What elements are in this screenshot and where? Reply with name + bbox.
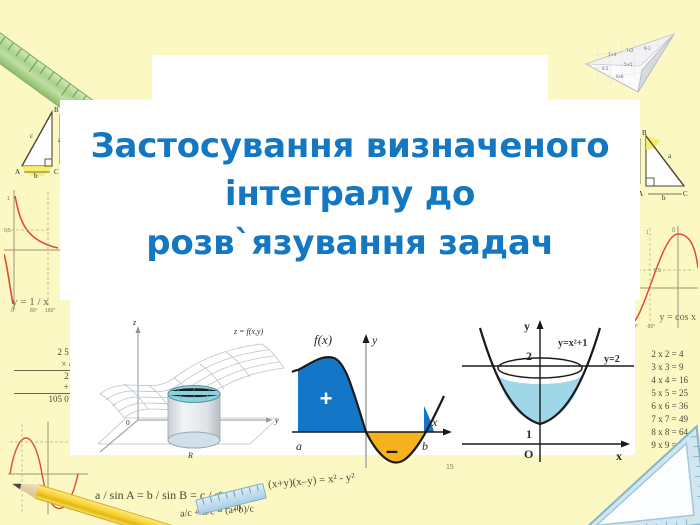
surface-region-label: R bbox=[187, 451, 193, 460]
hyperbola-tick-one: 1 bbox=[7, 196, 10, 202]
triangle-left-side-b: b bbox=[34, 172, 38, 180]
title-line-1: Застосування визначеного bbox=[60, 122, 640, 170]
surface-origin-label: 0 bbox=[126, 418, 130, 427]
solid-origin-label: O bbox=[524, 447, 533, 461]
hyperbola-tick-80: 80° bbox=[30, 308, 38, 314]
hyperbola-tick-half: 0,5 bbox=[4, 228, 11, 234]
cosine-caption: y = cos x bbox=[660, 312, 696, 323]
times-table-row: 5 x 5 = 25 bbox=[651, 387, 688, 400]
triangle-right-vertex-c: C bbox=[683, 190, 688, 198]
solid-axis-y-label: y bbox=[524, 319, 530, 333]
svg-text:7x2: 7x2 bbox=[626, 48, 634, 53]
surface-axis-z-label: z bbox=[132, 318, 137, 327]
times-table-row: 4 x 4 = 16 bbox=[651, 374, 688, 387]
svg-text:9-3: 9-3 bbox=[644, 46, 651, 51]
multiplication-times-sign: × bbox=[61, 359, 66, 369]
slide-canvas: B A C a b c 1 0,5 0 80° 160° y = 1 / x 1… bbox=[0, 0, 700, 525]
solid-curve-label: y=x²+1 bbox=[558, 338, 587, 349]
solid-tick-one: 1 bbox=[526, 427, 532, 441]
times-table-row: 3 x 3 = 9 bbox=[651, 361, 688, 374]
signed-plus-sign: + bbox=[320, 386, 333, 411]
paper-airplane-icon: 3+47x2 8:25+5 9-36x6 bbox=[582, 26, 678, 100]
difference-of-squares-formula: (x+y)(x–y) = x² - y² bbox=[268, 471, 356, 491]
triangle-left-vertex-b: B bbox=[54, 106, 59, 114]
surface-function-label: z = f(x,y) bbox=[233, 327, 264, 336]
signed-lower-limit-label: a bbox=[296, 439, 302, 453]
signed-axis-x-label: x bbox=[431, 415, 438, 429]
figure-double-integral-surface: y z 0 R bbox=[92, 312, 288, 462]
solid-axis-x-label: x bbox=[616, 449, 622, 463]
cosine-tick-neg90: -90° bbox=[646, 324, 655, 330]
signed-minus-sign: – bbox=[386, 438, 398, 463]
hyperbola-tick-160: 160° bbox=[45, 308, 55, 314]
signed-upper-limit-label: b bbox=[422, 439, 428, 453]
triangle-right-side-b: b bbox=[662, 194, 666, 202]
slide-number: 15 bbox=[446, 464, 454, 471]
svg-text:5+5: 5+5 bbox=[624, 62, 633, 67]
cosine-tick-half: 0,5 bbox=[654, 268, 661, 274]
solid-tick-two: 2 bbox=[526, 349, 532, 363]
triangle-right-side-a: a bbox=[668, 152, 672, 160]
title-line-2: інтегралу до bbox=[60, 170, 640, 218]
surface-axis-y-label: y bbox=[274, 416, 279, 425]
cosine-tick-one: 1 bbox=[646, 230, 649, 236]
svg-text:6x6: 6x6 bbox=[616, 74, 624, 79]
signed-axis-y-label: y bbox=[371, 333, 378, 347]
times-table-row: 6 x 6 = 36 bbox=[651, 400, 688, 413]
svg-text:3+4: 3+4 bbox=[608, 52, 617, 57]
page-title: Застосування визначеного інтегралу до ро… bbox=[60, 122, 640, 267]
triangle-left-side-c: c bbox=[30, 132, 33, 140]
svg-text:8:2: 8:2 bbox=[602, 66, 609, 71]
hyperbola-tick-zero: 0 bbox=[11, 308, 14, 314]
title-line-3: розв`язування задач bbox=[60, 219, 640, 267]
hyperbola-caption: y = 1 / x bbox=[12, 296, 49, 308]
cosine-tick-zero: 0 bbox=[672, 228, 676, 234]
signed-function-label: f(x) bbox=[314, 332, 332, 347]
figure-solid-of-revolution: y x O 2 1 y=x²+1 y=2 bbox=[458, 316, 644, 466]
times-table-row: 2 x 2 = 4 bbox=[651, 348, 688, 361]
triangle-left-vertex-c: C bbox=[54, 168, 59, 176]
figure-signed-area: y x a b f(x) + – bbox=[288, 322, 460, 472]
triangle-left-vertex-a: A bbox=[15, 168, 20, 176]
triangle-right-vertex-b: B bbox=[642, 129, 647, 137]
multiplication-plus-sign: + bbox=[64, 382, 69, 392]
solid-line-label: y=2 bbox=[604, 354, 620, 365]
